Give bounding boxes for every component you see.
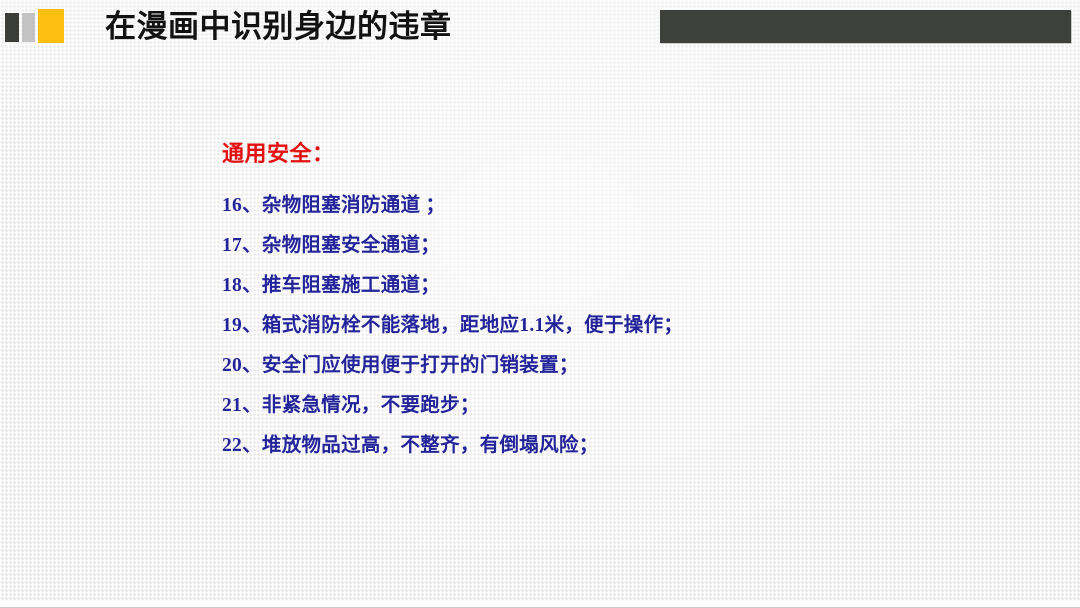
- header-yellow-block: [38, 9, 64, 43]
- list-item: 22、堆放物品过高，不整齐，有倒塌风险；: [222, 426, 1042, 466]
- list-item: 20、安全门应使用便于打开的门销装置；: [222, 346, 1042, 386]
- header-dark-bar: [660, 10, 1071, 43]
- list-item: 18、推车阻塞施工通道；: [222, 266, 1042, 306]
- section-heading: 通用安全：: [222, 139, 1042, 169]
- header-gray-block: [22, 13, 35, 42]
- presentation-slide: 在漫画中识别身边的违章 通用安全： 16、杂物阻塞消防通道 ； 17、杂物阻塞安…: [0, 0, 1080, 608]
- slide-content: 通用安全： 16、杂物阻塞消防通道 ； 17、杂物阻塞安全通道； 18、推车阻塞…: [222, 139, 1042, 466]
- list-item: 17、杂物阻塞安全通道；: [222, 226, 1042, 266]
- header-dark-block: [5, 13, 19, 42]
- list-item: 21、非紧急情况，不要跑步；: [222, 386, 1042, 426]
- rules-list: 16、杂物阻塞消防通道 ； 17、杂物阻塞安全通道； 18、推车阻塞施工通道； …: [222, 186, 1042, 466]
- list-item: 16、杂物阻塞消防通道 ；: [222, 186, 1042, 226]
- list-item: 19、箱式消防栓不能落地，距地应1.1米，便于操作；: [222, 306, 1042, 346]
- slide-header: 在漫画中识别身边的违章: [0, 0, 1080, 56]
- page-title: 在漫画中识别身边的违章: [105, 6, 452, 48]
- slide-bottom-edge: [0, 600, 1080, 608]
